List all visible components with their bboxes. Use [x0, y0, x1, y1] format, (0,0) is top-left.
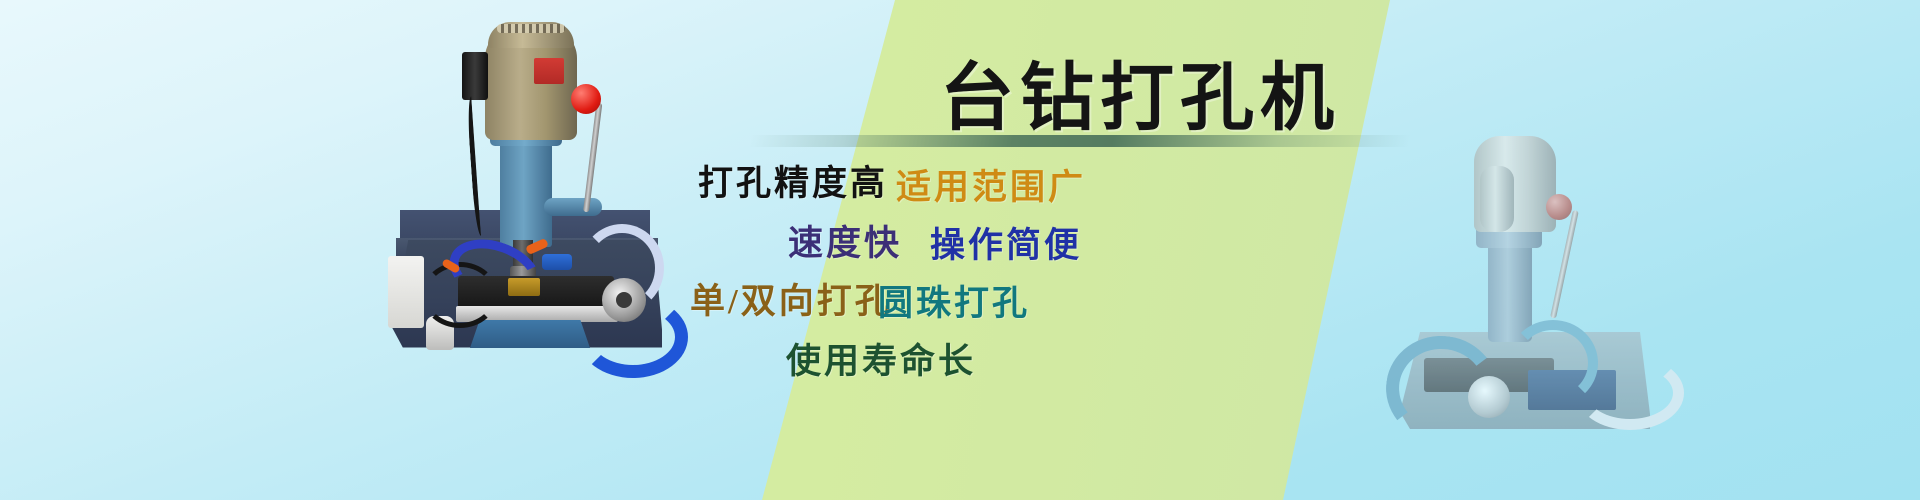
- drill-blue-cap: [542, 254, 572, 270]
- drill-lever-hub: [544, 198, 602, 216]
- drill-control-box: [388, 256, 424, 328]
- feature-long-life: 使用寿命长: [786, 333, 976, 384]
- drill-table: [470, 320, 590, 348]
- drill-lever-red-ball: [571, 84, 601, 114]
- drill2-clear-hose: [1576, 356, 1684, 430]
- feature-range: 适用范围广: [896, 159, 1086, 210]
- feature-bidirectional-drilling: 单/双向打孔: [690, 273, 893, 324]
- drill-large-blue-hose: [578, 296, 688, 378]
- drill2-lever-red-ball: [1546, 194, 1572, 220]
- feature-list: 打孔精度高 适用范围广 速度快 操作简便 单/双向打孔 圆珠打孔 使用寿命长: [690, 155, 1410, 475]
- feature-bead-drilling: 圆珠打孔: [878, 275, 1030, 326]
- left-product-image: [330, 10, 690, 380]
- right-product-image: [1380, 120, 1680, 450]
- drill-motor-label: [534, 58, 564, 84]
- feature-accuracy: 打孔精度高: [698, 155, 888, 206]
- drill2-capacitor: [1480, 166, 1514, 232]
- feature-speed: 速度快: [788, 215, 902, 266]
- drill-motor-vents: [497, 24, 565, 33]
- page-title: 台钻打孔机: [940, 38, 1340, 145]
- drill-junction-box: [462, 52, 488, 100]
- drill-feed-lever: [583, 102, 602, 212]
- product-banner: 台钻打孔机 打孔精度高 适用范围广 速度快 操作简便 单/双向打孔 圆珠打孔 使…: [0, 0, 1920, 500]
- feature-easy-operation: 操作简便: [930, 217, 1082, 268]
